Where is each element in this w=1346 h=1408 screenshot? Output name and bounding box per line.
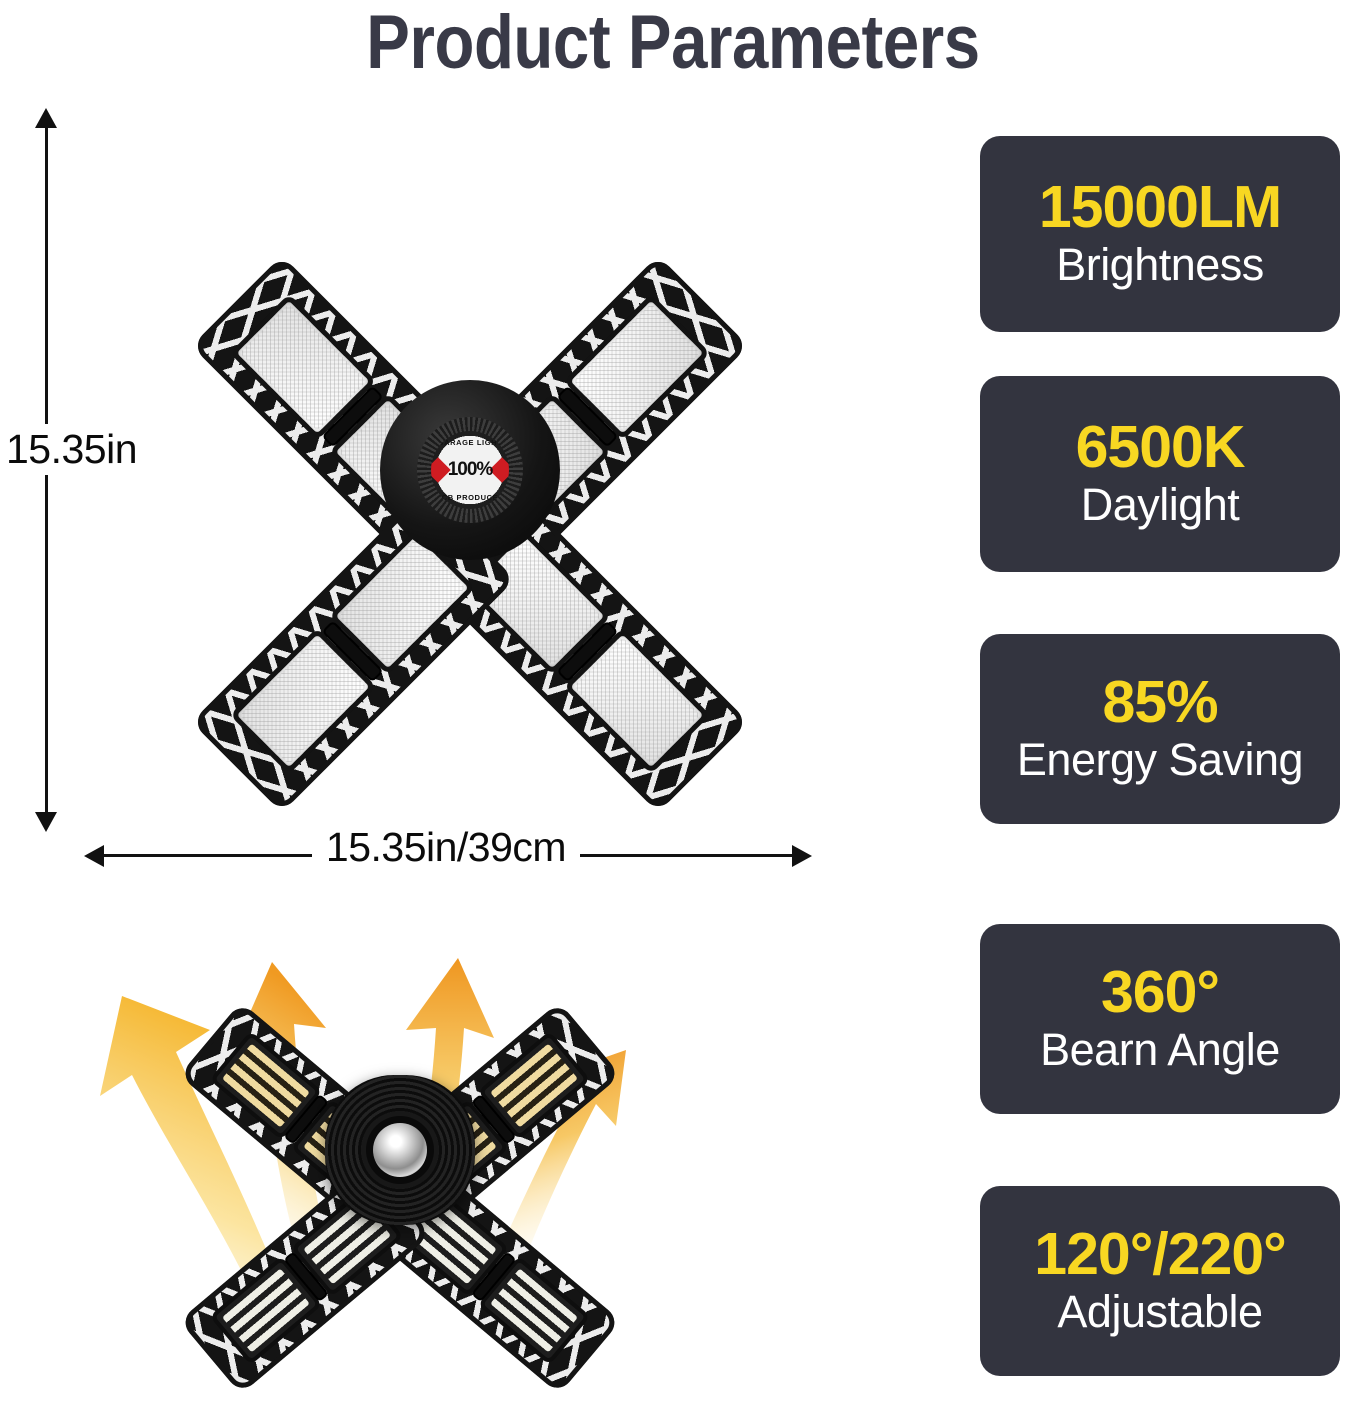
product-bottom-view bbox=[150, 905, 650, 1395]
badge-center-text: 100% bbox=[448, 459, 493, 481]
parameter-label: Brightness bbox=[1056, 241, 1264, 290]
center-hub-heatsink bbox=[325, 1075, 475, 1225]
e26-socket-icon bbox=[373, 1123, 427, 1177]
parameter-label: Bearn Angle bbox=[1040, 1026, 1280, 1075]
parameter-value: 6500K bbox=[1076, 418, 1245, 477]
parameter-card-adjustable[interactable]: 120°/220° Adjustable bbox=[980, 1186, 1340, 1376]
parameter-card-beam-angle[interactable]: 360° Bearn Angle bbox=[980, 924, 1340, 1114]
badge-top-text: GARAGE LIGHT bbox=[431, 438, 509, 447]
parameter-card-brightness[interactable]: 15000LM Brightness bbox=[980, 136, 1340, 332]
parameter-cards-list: 15000LM Brightness 6500K Daylight 85% En… bbox=[980, 0, 1346, 1408]
parameter-value: 120°/220° bbox=[1034, 1225, 1285, 1284]
badge-bottom-text: CB PRODUCE bbox=[431, 493, 509, 502]
product-top-view: GARAGE LIGHT 100% CB PRODUCE bbox=[100, 110, 840, 830]
center-hub: GARAGE LIGHT 100% CB PRODUCE bbox=[380, 380, 560, 560]
parameter-label: Energy Saving bbox=[1017, 736, 1303, 785]
parameter-value: 15000LM bbox=[1039, 178, 1281, 237]
dimension-width-text: 15.35in/39cm bbox=[312, 824, 580, 870]
brand-badge: GARAGE LIGHT 100% CB PRODUCE bbox=[417, 417, 523, 523]
parameter-card-energy-saving[interactable]: 85% Energy Saving bbox=[980, 634, 1340, 824]
dimension-height-label: 15.35in bbox=[2, 424, 141, 475]
product-illustrations: GARAGE LIGHT 100% CB PRODUCE 15.35in 15.… bbox=[0, 0, 960, 1408]
parameter-value: 360° bbox=[1101, 963, 1219, 1022]
parameter-card-color-temperature[interactable]: 6500K Daylight bbox=[980, 376, 1340, 572]
dimension-width-label: 15.35in/39cm bbox=[0, 824, 892, 871]
parameter-label: Daylight bbox=[1081, 481, 1240, 530]
parameter-label: Adjustable bbox=[1057, 1288, 1262, 1337]
parameter-value: 85% bbox=[1102, 673, 1217, 732]
